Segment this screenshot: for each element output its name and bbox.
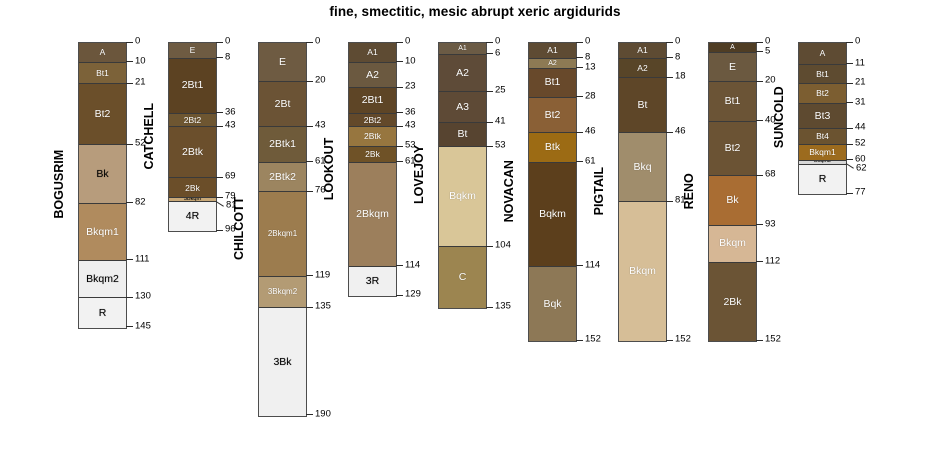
horizon-layer: Bt1: [799, 65, 846, 85]
tick-label: 0: [495, 37, 500, 47]
tick-line: [576, 96, 583, 97]
horizon-layer: Bt2: [709, 122, 756, 177]
profile-name-label: LOOKOUT: [322, 42, 336, 295]
horizon-layer: Bqkm: [439, 147, 486, 247]
horizon-layer: Btk: [529, 133, 576, 162]
horizon-label: 2Bt2: [184, 116, 202, 125]
horizon-label: C: [459, 272, 467, 283]
horizon-label: Bkqm1: [86, 227, 119, 238]
horizon-layer: A1: [529, 43, 576, 59]
tick-line: [576, 265, 583, 266]
tick-line: [216, 230, 223, 231]
tick-label: 77: [855, 188, 866, 198]
horizon-label: Bkqm2: [86, 274, 119, 285]
horizon-label: E: [190, 46, 196, 55]
horizon-label: Bkqm1: [809, 148, 835, 157]
horizon-label: 2Bkqm: [356, 209, 389, 220]
horizon-layer: A1: [439, 43, 486, 55]
tick-line: [306, 42, 313, 43]
profile-column: A1A2Bt1Bt2BtkBqkmBqk: [528, 42, 577, 342]
horizon-label: A2: [548, 60, 557, 67]
tick-label: 111: [135, 254, 149, 264]
horizon-layer: E: [709, 53, 756, 82]
horizon-layer: 2Bt2: [169, 114, 216, 128]
horizon-layer: A: [79, 43, 126, 63]
horizon-label: 2Btk: [364, 132, 381, 141]
horizon-label: R: [99, 308, 107, 319]
horizon-label: Bt1: [545, 77, 561, 88]
horizon-layer: A2: [349, 63, 396, 89]
horizon-layer: Bt3: [799, 104, 846, 130]
horizon-layer: Bt1: [79, 63, 126, 85]
tick-label: 6: [495, 48, 500, 58]
tick-label: 145: [135, 321, 151, 331]
tick-line: [756, 175, 763, 176]
tick-line: [216, 57, 223, 58]
horizon-label: A: [820, 49, 826, 58]
tick-line: [666, 340, 673, 341]
horizon-layer: Bt2: [529, 98, 576, 133]
profile-name-label: CHILCOTT: [232, 42, 246, 415]
tick-line: [396, 161, 403, 162]
horizon-layer: Bkqm2: [79, 261, 126, 298]
tick-line: [576, 340, 583, 341]
tick-line: [126, 326, 133, 327]
horizon-layer: 2Btk2: [259, 163, 306, 192]
horizon-label: Bt: [458, 129, 468, 140]
tick-line: [756, 261, 763, 262]
tick-label: 21: [855, 78, 866, 88]
horizon-label: 2Btk1: [269, 139, 296, 150]
tick-line: [396, 126, 403, 127]
tick-line: [846, 63, 853, 64]
tick-label: 0: [135, 37, 140, 47]
tick-line: [216, 197, 223, 198]
horizon-label: 2Bk: [365, 150, 380, 159]
tick-label: 31: [855, 97, 866, 107]
tick-line: [576, 161, 583, 162]
tick-label: 8: [225, 52, 230, 62]
horizon-label: E: [279, 57, 286, 68]
horizon-layer: Bkqm1: [79, 204, 126, 261]
horizon-layer: Bkqm: [709, 226, 756, 263]
tick-line: [846, 83, 853, 84]
horizon-layer: Bt4: [799, 129, 846, 145]
tick-label: 190: [315, 409, 331, 419]
tick-label: 62: [856, 163, 867, 173]
tick-label: 0: [315, 37, 320, 47]
horizon-layer: 2Bk: [349, 147, 396, 163]
tick-line: [396, 146, 403, 147]
horizon-layer: Bt2: [79, 84, 126, 145]
profile-column: A1A2A3BtBqkmC: [438, 42, 487, 309]
tick-label: 11: [855, 58, 865, 68]
horizon-label: A1: [547, 46, 557, 55]
tick-line: [396, 295, 403, 296]
tick-line: [396, 112, 403, 113]
horizon-layer: Bk: [79, 145, 126, 204]
tick-label: 0: [585, 37, 590, 47]
horizon-label: A1: [458, 45, 467, 52]
horizon-label: A2: [456, 68, 469, 79]
horizon-layer: A2: [619, 59, 666, 79]
tick-line: [396, 42, 403, 43]
tick-line: [756, 340, 763, 341]
horizon-label: A3: [456, 102, 469, 113]
tick-line: [486, 146, 493, 147]
horizon-layer: 2Bkqm1: [259, 192, 306, 276]
horizon-layer: A2: [439, 55, 486, 92]
horizon-label: Bkq: [633, 162, 651, 173]
horizon-layer: Bqk: [529, 267, 576, 342]
profile-name-label: RENO: [682, 42, 696, 340]
horizon-label: Bt4: [816, 132, 829, 141]
horizon-label: 2Bt1: [182, 80, 204, 91]
horizon-layer: A: [709, 43, 756, 53]
tick-line: [126, 259, 133, 260]
tick-line: [846, 193, 853, 194]
horizon-label: 2Bk: [723, 297, 741, 308]
horizon-label: Bt: [638, 100, 648, 111]
horizon-layer: 3Bkqm2: [259, 277, 306, 308]
tick-line: [486, 53, 493, 54]
horizon-layer: Bt2: [799, 84, 846, 104]
horizon-layer: 2Bk: [169, 178, 216, 198]
tick-label: 0: [405, 37, 410, 47]
page-title: fine, smectitic, mesic abrupt xeric argi…: [0, 4, 950, 19]
horizon-label: A1: [367, 48, 377, 57]
horizon-layer: 2Bk: [709, 263, 756, 342]
tick-line: [846, 159, 853, 160]
horizon-layer: Bkqm: [619, 202, 666, 341]
horizon-label: R: [819, 174, 827, 185]
horizon-layer: 2Bkqm: [349, 163, 396, 267]
tick-line: [666, 57, 673, 58]
tick-line: [306, 161, 313, 162]
horizon-layer: 2Btk: [349, 127, 396, 147]
tick-line: [306, 307, 313, 308]
horizon-layer: Bt: [619, 78, 666, 133]
horizon-label: Btk: [545, 142, 560, 153]
tick-line: [576, 42, 583, 43]
profile-column: E2Bt12Bt22Btk2Bk3Bkqm4R: [168, 42, 217, 232]
horizon-layer: Bt: [439, 123, 486, 147]
tick-line: [846, 42, 853, 43]
horizon-label: 2Btk2: [269, 172, 296, 183]
profile-column: A1A22Bt12Bt22Btk2Bk2Bkqm3R: [348, 42, 397, 297]
horizon-label: Bk: [96, 169, 108, 180]
tick-line: [756, 224, 763, 225]
horizon-layer: E: [259, 43, 306, 82]
profile-name-label: LOVEJOY: [412, 42, 426, 307]
tick-label: 0: [855, 37, 860, 47]
horizon-label: Bt3: [815, 111, 831, 122]
tick-line: [126, 42, 133, 43]
tick-line: [486, 42, 493, 43]
tick-line: [576, 67, 583, 68]
horizon-layer: 2Btk: [169, 127, 216, 178]
tick-label: 0: [225, 37, 230, 47]
horizon-layer: 2Bt1: [169, 59, 216, 114]
tick-line: [216, 112, 223, 113]
depth-axis: 01121314452606277: [846, 42, 906, 193]
horizon-layer: 3R: [349, 267, 396, 296]
horizon-layer: Bkq: [619, 133, 666, 202]
tick-line: [126, 297, 133, 298]
horizon-layer: Bqkm: [529, 163, 576, 267]
horizon-label: 2Bkqm1: [268, 230, 297, 238]
horizon-label: 2Bt1: [362, 95, 384, 106]
tick-line: [576, 57, 583, 58]
tick-line: [486, 307, 493, 308]
tick-line: [216, 201, 225, 207]
tick-line: [306, 414, 313, 415]
horizon-label: A2: [637, 64, 647, 73]
tick-line: [666, 77, 673, 78]
profile-name-label: PIGTAIL: [592, 42, 606, 340]
tick-line: [756, 120, 763, 121]
horizon-layer: A2: [529, 59, 576, 69]
profile-column: E2Bt2Btk12Btk22Bkqm13Bkqm23Bk: [258, 42, 307, 417]
tick-line: [846, 144, 853, 145]
profile-column: ABt1Bt2Bt3Bt4Bkqm1Bkqm2R: [798, 42, 847, 195]
tick-line: [576, 132, 583, 133]
profile-name-label: CATCHELL: [142, 42, 156, 230]
horizon-layer: A1: [619, 43, 666, 59]
horizon-layer: A: [799, 43, 846, 65]
tick-line: [846, 102, 853, 103]
tick-label: 152: [765, 335, 781, 345]
horizon-label: Bt2: [816, 89, 829, 98]
tick-line: [126, 202, 133, 203]
tick-line: [126, 144, 133, 145]
horizon-label: A: [730, 44, 735, 51]
horizon-label: Bt1: [725, 96, 741, 107]
horizon-layer: Bk: [709, 176, 756, 225]
horizon-layer: R: [799, 165, 846, 194]
horizon-label: 2Bk: [185, 184, 200, 193]
horizon-label: 2Btk: [182, 147, 203, 158]
tick-line: [306, 126, 313, 127]
tick-line: [306, 81, 313, 82]
horizon-layer: 4R: [169, 202, 216, 231]
tick-line: [216, 177, 223, 178]
tick-line: [756, 51, 763, 52]
tick-line: [216, 126, 223, 127]
horizon-layer: 2Btk1: [259, 127, 306, 162]
horizon-layer: 2Bt2: [349, 114, 396, 128]
tick-line: [306, 275, 313, 276]
profile-name-label: SUNCOLD: [772, 42, 786, 193]
tick-line: [756, 81, 763, 82]
horizon-label: 3Bkqm2: [268, 288, 297, 296]
tick-line: [396, 87, 403, 88]
horizon-label: Bt2: [95, 109, 111, 120]
profile-name-label: BOGUSRIM: [52, 42, 66, 327]
tick-label: 135: [315, 302, 331, 312]
horizon-label: Bqkm: [449, 191, 476, 202]
horizon-label: 3Bk: [273, 357, 291, 368]
horizon-label: Bk: [726, 195, 738, 206]
tick-line: [666, 201, 673, 202]
horizon-label: Bkqm: [719, 238, 746, 249]
profile-column: ABt1Bt2BkBkqm1Bkqm2R: [78, 42, 127, 329]
horizon-label: Bqkm: [539, 209, 566, 220]
tick-line: [216, 42, 223, 43]
tick-label: 8: [675, 52, 680, 62]
tick-line: [486, 246, 493, 247]
horizon-layer: C: [439, 247, 486, 308]
horizon-label: 3R: [366, 276, 379, 287]
horizon-layer: A3: [439, 92, 486, 123]
horizon-label: Bt1: [816, 70, 829, 79]
tick-label: 52: [855, 139, 866, 149]
tick-line: [126, 83, 133, 84]
horizon-label: 2Bt2: [364, 116, 382, 125]
tick-line: [396, 265, 403, 266]
horizon-layer: Bkqm1: [799, 145, 846, 161]
tick-line: [846, 163, 855, 169]
horizon-layer: Bt1: [529, 69, 576, 98]
horizon-label: Bt2: [545, 110, 561, 121]
horizon-label: 2Bt: [275, 99, 291, 110]
horizon-layer: Bt1: [709, 82, 756, 121]
profile-column: A1A2BtBkqBkqm: [618, 42, 667, 342]
horizon-label: E: [729, 62, 736, 73]
horizon-layer: 3Bk: [259, 308, 306, 416]
horizon-layer: 2Bt: [259, 82, 306, 127]
tick-label: 44: [855, 123, 866, 133]
tick-line: [666, 42, 673, 43]
horizon-label: Bt1: [96, 69, 109, 78]
horizon-layer: 2Bt1: [349, 88, 396, 114]
tick-line: [666, 132, 673, 133]
horizon-label: Bqk: [543, 299, 561, 310]
tick-line: [846, 128, 853, 129]
tick-line: [486, 122, 493, 123]
tick-line: [486, 91, 493, 92]
horizon-label: 4R: [186, 211, 199, 222]
tick-line: [756, 42, 763, 43]
horizon-layer: E: [169, 43, 216, 59]
horizon-layer: A1: [349, 43, 396, 63]
horizon-layer: R: [79, 298, 126, 327]
tick-label: 5: [765, 46, 770, 56]
tick-label: 93: [765, 219, 776, 229]
horizon-label: Bt2: [725, 143, 741, 154]
tick-line: [306, 191, 313, 192]
horizon-label: A1: [637, 46, 647, 55]
tick-line: [396, 61, 403, 62]
horizon-label: A2: [366, 70, 379, 81]
tick-label: 112: [765, 256, 780, 266]
tick-line: [126, 61, 133, 62]
horizon-label: Bkqm: [629, 266, 656, 277]
profile-column: AEBt1Bt2BkBkqm2Bk: [708, 42, 757, 342]
tick-label: 0: [675, 37, 680, 47]
tick-label: 130: [135, 292, 151, 302]
profile-name-label: NOVACAN: [502, 42, 516, 340]
horizon-label: A: [100, 48, 106, 57]
